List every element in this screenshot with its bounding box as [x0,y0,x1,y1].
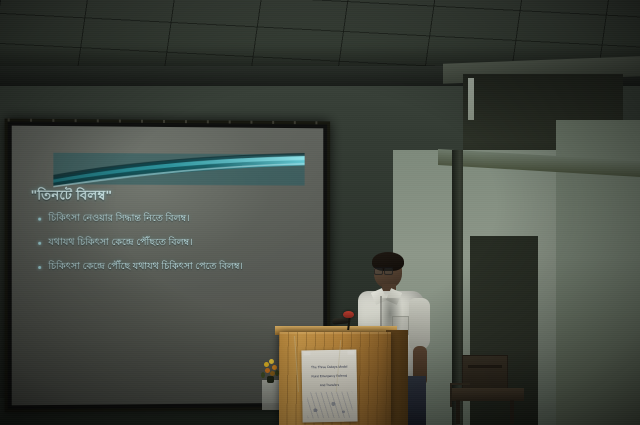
poster-line-2: Rural Emergency Referral [302,374,357,379]
slide-bullet-list: চিকিৎসা নেওয়ার সিদ্ধান্ত নিতে বিলম্ব। য… [37,212,311,284]
photo-scene: "তিনটে বিলম্ব" চিকিৎসা নেওয়ার সিদ্ধান্ত… [0,0,640,425]
chair-leg [510,400,514,424]
poster-graphic [307,392,352,419]
flower-vase [262,380,279,410]
poster-line-3: And Transfers [302,383,357,388]
poster-line-1: The Three Delays Model [302,365,356,370]
chair-leg [456,400,460,424]
slide-swoosh-graphic [53,151,305,188]
microphone-icon [343,311,354,318]
slide-bullet-2: যথাযথ চিকিৎসা কেন্দ্রে পৌঁছতে বিলম্ব। [37,236,311,248]
wooden-chair [448,355,534,425]
slide-bullet-3: চিকিৎসা কেন্দ্রে পৌঁছে যথাযথ চিকিৎসা পেত… [37,261,311,273]
slide-title: "তিনটে বিলম্ব" [31,186,112,207]
shirt-sleeve-right [409,298,430,350]
eyeglasses [374,267,393,273]
wall-light-strip [468,78,474,120]
slide-bullet-1: চিকিৎসা নেওয়ার সিদ্ধান্ত নিতে বিলম্ব। [37,212,311,225]
podium-poster: The Three Delays Model Rural Emergency R… [301,350,357,423]
